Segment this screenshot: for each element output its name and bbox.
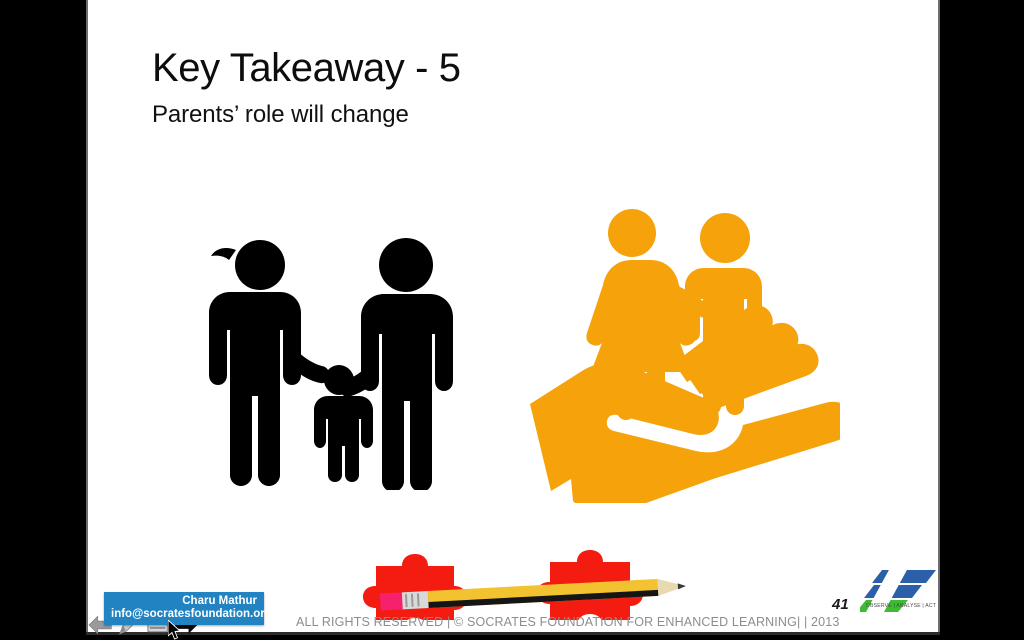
presentation-viewer: Key Takeaway - 5 Parents’ role will chan… <box>0 0 1024 640</box>
contact-email[interactable]: info@socratesfoundation.org <box>111 608 257 621</box>
footer-copyright: ALL RIGHTS RESERVED | © SOCRATES FOUNDAT… <box>296 615 839 629</box>
page-number: 41 <box>832 596 849 613</box>
pencil-and-puzzle-pieces-icon <box>328 548 718 620</box>
title-block: Key Takeaway - 5 Parents’ role will chan… <box>152 44 852 129</box>
page-subtitle: Parents’ role will change <box>152 101 852 129</box>
viewer-bottom-rule <box>86 632 940 635</box>
hand-supporting-children-icon <box>520 208 840 503</box>
contact-tooltip: Charu Mathur info@socratesfoundation.org <box>104 592 264 625</box>
page-title: Key Takeaway - 5 <box>152 44 852 92</box>
brand-tagline: OBSERVE | ANALYSE | ACT <box>858 603 940 609</box>
contact-name: Charu Mathur <box>111 595 257 608</box>
family-holding-hands-icon <box>198 228 488 490</box>
slide-canvas: Key Takeaway - 5 Parents’ role will chan… <box>86 0 940 632</box>
